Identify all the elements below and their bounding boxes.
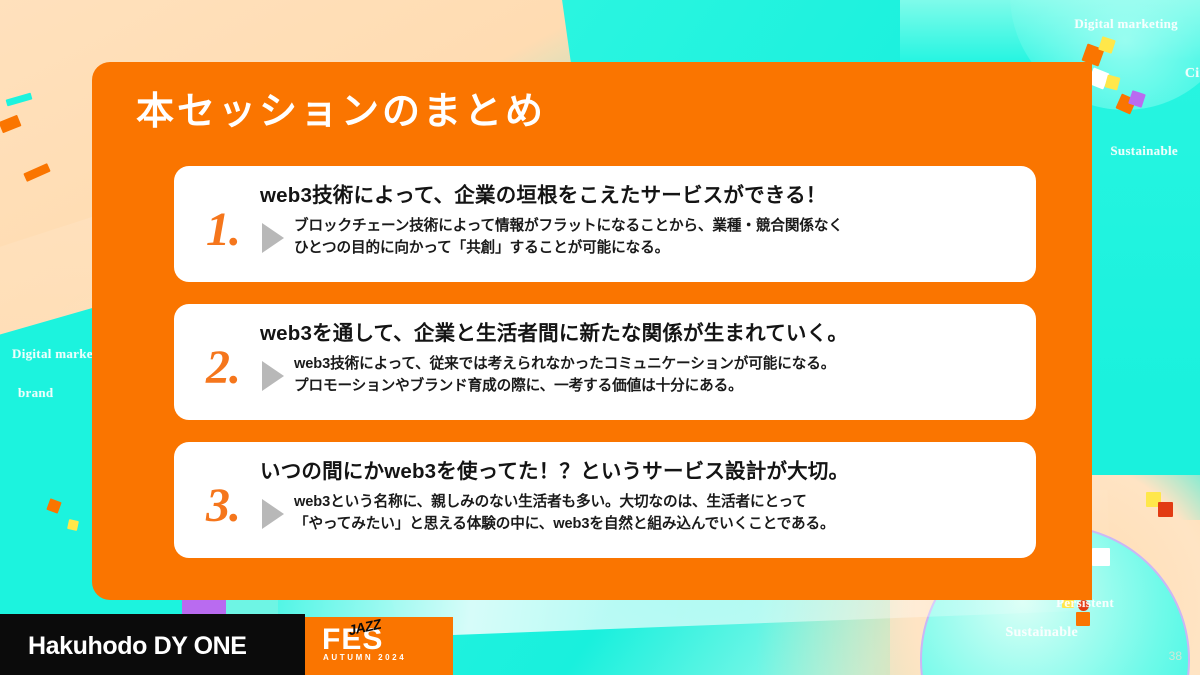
summary-card[interactable]: 2. web3を通して、企業と生活者間に新たな関係が生まれていく。 web3技術…: [174, 304, 1036, 420]
brand-logo: Hakuhodo DY ONE: [0, 632, 247, 661]
footer-brand-bar: Hakuhodo DY ONE: [0, 617, 305, 675]
card-detail-line-1: ブロックチェーン技術によって情報がフラットになることから、業種・競合関係なく: [294, 216, 843, 238]
fes-logo: FES JAZZ AUTUMN 2024: [322, 625, 434, 663]
card-detail: ブロックチェーン技術によって情報がフラットになることから、業種・競合関係なく ひ…: [294, 216, 843, 260]
confetti-square: [1076, 612, 1090, 626]
confetti-square: [1092, 548, 1110, 566]
confetti-square: [67, 519, 79, 531]
card-detail-line-2: ひとつの目的に向かって「共創」することが可能になる。: [294, 238, 843, 260]
summary-card[interactable]: 3. いつの間にかweb3を使ってた！？というサービス設計が大切。 web3とい…: [174, 442, 1036, 558]
background-word-circular: Cir: [1185, 66, 1200, 82]
card-detail-row: ブロックチェーン技術によって情報がフラットになることから、業種・競合関係なく ひ…: [260, 216, 1016, 260]
card-number: 3.: [186, 470, 260, 530]
fes-logo-year: AUTUMN 2024: [323, 653, 406, 662]
card-detail-line-1: web3という名称に、親しみのない生活者も多い。大切なのは、生活者にとって: [294, 492, 834, 514]
triangle-bullet-icon: [262, 223, 284, 253]
card-detail: web3という名称に、親しみのない生活者も多い。大切なのは、生活者にとって 「や…: [294, 492, 834, 536]
card-detail-row: web3技術によって、従来では考えられなかったコミュニケーションが可能になる。 …: [260, 354, 1016, 398]
card-body: いつの間にかweb3を使ってた！？というサービス設計が大切。 web3という名称…: [260, 455, 1016, 536]
background-word-sustainable-right: Sustainable: [1110, 143, 1178, 159]
card-detail-line-1: web3技術によって、従来では考えられなかったコミュニケーションが可能になる。: [294, 354, 835, 376]
card-detail-row: web3という名称に、親しみのない生活者も多い。大切なのは、生活者にとって 「や…: [260, 492, 1016, 536]
confetti-square: [1158, 502, 1173, 517]
card-number: 1.: [186, 194, 260, 254]
card-body: web3技術によって、企業の垣根をこえたサービスができる！ ブロックチェーン技術…: [260, 179, 1016, 260]
card-heading: web3技術によって、企業の垣根をこえたサービスができる！: [260, 183, 1016, 209]
background-word-digital-marketing-top: Digital marketing: [1074, 16, 1178, 32]
card-heading: いつの間にかweb3を使ってた！？というサービス設計が大切。: [260, 459, 1016, 485]
card-detail: web3技術によって、従来では考えられなかったコミュニケーションが可能になる。 …: [294, 354, 835, 398]
page-number: 38: [1169, 649, 1182, 663]
slide-title: 本セッションのまとめ: [136, 90, 546, 136]
presentation-slide: Digital marketing Cir Sustainable Digita…: [0, 0, 1200, 675]
card-detail-line-2: プロモーションやブランド育成の際に、一考する価値は十分にある。: [294, 376, 835, 398]
background-word-sustainable-bottom: Sustainable: [1005, 625, 1078, 641]
content-panel: 本セッションのまとめ 1. web3技術によって、企業の垣根をこえたサービスがで…: [92, 62, 1092, 600]
triangle-bullet-icon: [262, 499, 284, 529]
card-detail-line-2: 「やってみたい」と思える体験の中に、web3を自然と組み込んでいくことである。: [294, 514, 834, 536]
triangle-bullet-icon: [262, 361, 284, 391]
summary-card-list: 1. web3技術によって、企業の垣根をこえたサービスができる！ ブロックチェー…: [174, 166, 1036, 558]
card-heading: web3を通して、企業と生活者間に新たな関係が生まれていく。: [260, 321, 1016, 347]
card-body: web3を通して、企業と生活者間に新たな関係が生まれていく。 web3技術によっ…: [260, 317, 1016, 398]
card-number: 2.: [186, 332, 260, 392]
summary-card[interactable]: 1. web3技術によって、企業の垣根をこえたサービスができる！ ブロックチェー…: [174, 166, 1036, 282]
background-word-brand: brand: [18, 385, 53, 401]
